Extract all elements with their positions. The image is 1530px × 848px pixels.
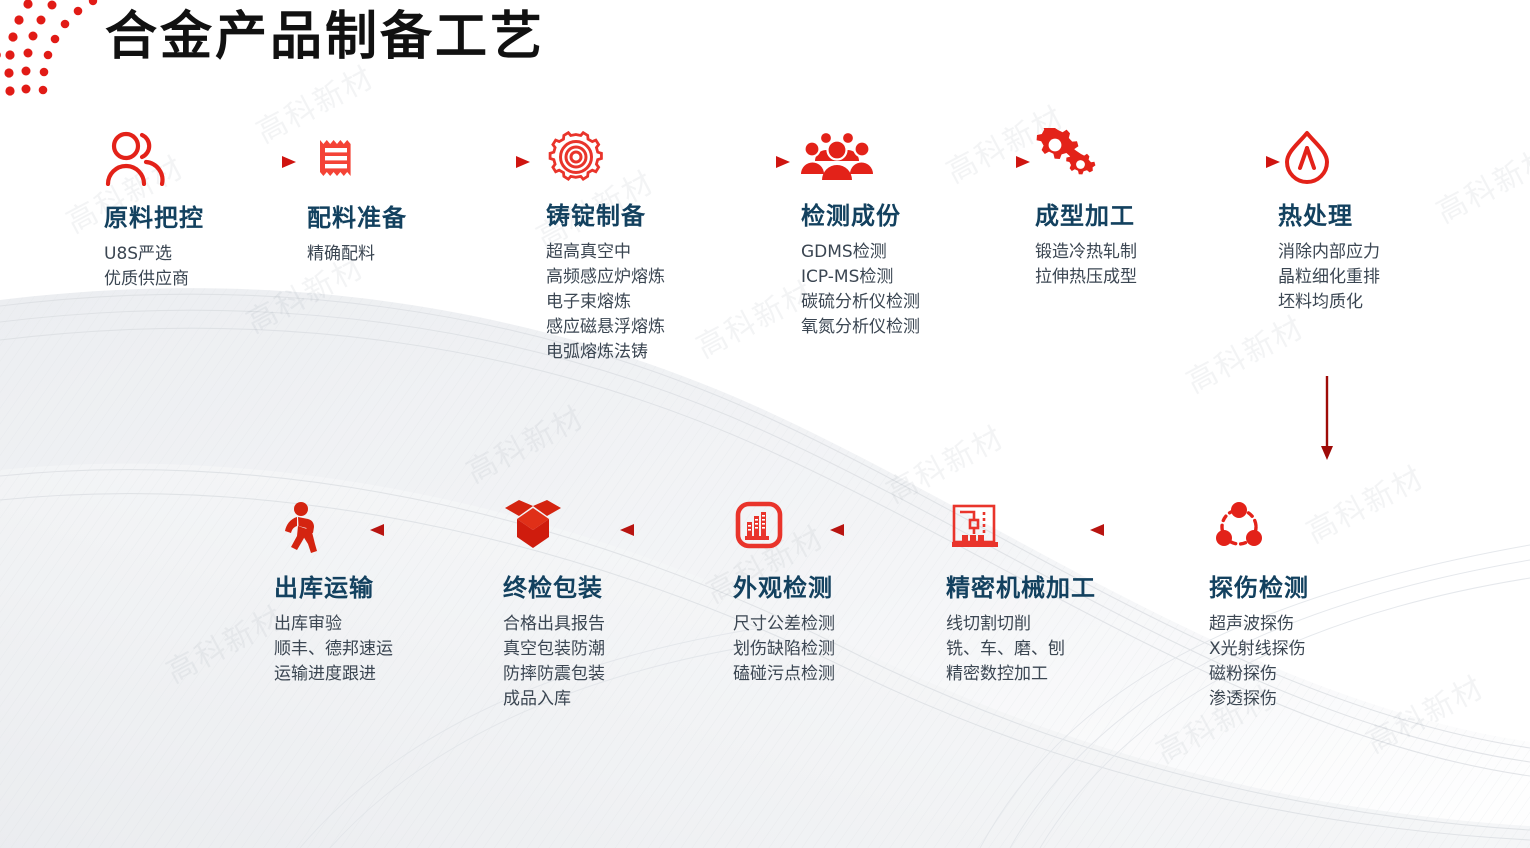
step-detail-list: 线切割切削 铣、车、磨、刨 精密数控加工 [946, 612, 1096, 687]
step-title: 成型加工 [1035, 196, 1137, 231]
step-title: 精密机械加工 [946, 568, 1096, 603]
flow-arrow-right [420, 155, 530, 169]
red-dot-arc-icon [0, 0, 116, 110]
step-detail-list: 锻造冷热轧制 拉伸热压成型 [1035, 240, 1137, 290]
flame-icon [1278, 128, 1380, 186]
step-detail-line: 锻造冷热轧制 [1035, 240, 1137, 265]
step-detail-line: 渗透探伤 [1209, 687, 1309, 712]
page-title: 合金产品制备工艺 [105, 8, 545, 68]
flow-arrow-left [1090, 523, 1190, 537]
step-detail-line: GDMS检测 [801, 240, 920, 265]
step-detail-line: 感应磁悬浮熔炼 [546, 315, 665, 340]
cnc-machine-icon [946, 500, 1096, 558]
step-raw-material-control[interactable]: 原料把控 U8S严选 优质供应商 [104, 130, 204, 292]
step-title: 检测成份 [801, 196, 920, 231]
step-detail-list: 消除内部应力 晶粒细化重排 坯料均质化 [1278, 240, 1380, 315]
walking-person-icon [274, 500, 393, 558]
step-detail-line: U8S严选 [104, 242, 204, 267]
step-composition-testing[interactable]: 检测成份 GDMS检测 ICP-MS检测 碳硫分析仪检测 氧氮分析仪检测 [801, 128, 920, 340]
step-title: 外观检测 [733, 568, 835, 603]
step-detail-list: 精确配料 [307, 242, 407, 267]
flow-arrow-left [830, 523, 930, 537]
step-detail-line: 氧氮分析仪检测 [801, 315, 920, 340]
step-heat-treatment[interactable]: 热处理 消除内部应力 晶粒细化重排 坯料均质化 [1278, 128, 1380, 315]
step-detail-line: 晶粒细化重排 [1278, 265, 1380, 290]
step-detail-list: GDMS检测 ICP-MS检测 碳硫分析仪检测 氧氮分析仪检测 [801, 240, 920, 340]
step-detail-line: 高频感应炉熔炼 [546, 265, 665, 290]
step-detail-line: ICP-MS检测 [801, 265, 920, 290]
open-box-icon [503, 500, 605, 558]
step-title: 终检包装 [503, 568, 605, 603]
step-detail-line: 坯料均质化 [1278, 290, 1380, 315]
step-title: 原料把控 [104, 198, 204, 233]
step-detail-line: 碳硫分析仪检测 [801, 290, 920, 315]
step-detail-line: 划伤缺陷检测 [733, 637, 835, 662]
step-detail-line: 优质供应商 [104, 267, 204, 292]
step-appearance-inspection[interactable]: 外观检测 尺寸公差检测 划伤缺陷检测 磕碰污点检测 [733, 500, 835, 687]
page-header: 合金产品制备工艺 [0, 0, 1530, 100]
step-detail-line: 防摔防震包装 [503, 662, 605, 687]
step-detail-list: 合格出具报告 真空包装防潮 防摔防震包装 成品入库 [503, 612, 605, 712]
step-detail-line: 磕碰污点检测 [733, 662, 835, 687]
flow-arrow-down [1320, 376, 1334, 460]
step-detail-list: 超声波探伤 X光射线探伤 磁粉探伤 渗透探伤 [1209, 612, 1309, 712]
step-detail-line: 磁粉探伤 [1209, 662, 1309, 687]
step-flaw-detection[interactable]: 探伤检测 超声波探伤 X光射线探伤 磁粉探伤 渗透探伤 [1209, 500, 1309, 712]
step-title: 配料准备 [307, 198, 407, 233]
flow-arrow-left [620, 523, 720, 537]
step-detail-line: 电子束熔炼 [546, 290, 665, 315]
step-title: 出库运输 [274, 568, 393, 603]
step-detail-line: 拉伸热压成型 [1035, 265, 1137, 290]
step-detail-line: 顺丰、德邦速运 [274, 637, 393, 662]
receipt-icon [307, 130, 407, 188]
step-detail-list: 超高真空中 高频感应炉熔炼 电子束熔炼 感应磁悬浮熔炼 电弧熔炼法铸 [546, 240, 665, 365]
flow-arrow-right [930, 155, 1030, 169]
factory-badge-icon [733, 500, 835, 558]
step-batching-preparation[interactable]: 配料准备 精确配料 [307, 130, 407, 267]
step-detail-line: 出库审验 [274, 612, 393, 637]
step-detail-line: 精确配料 [307, 242, 407, 267]
step-detail-line: 精密数控加工 [946, 662, 1096, 687]
two-people-outline-icon [104, 130, 204, 188]
flow-arrow-right [690, 155, 790, 169]
step-detail-line: 消除内部应力 [1278, 240, 1380, 265]
step-final-inspection-packaging[interactable]: 终检包装 合格出具报告 真空包装防潮 防摔防震包装 成品入库 [503, 500, 605, 712]
step-detail-list: 尺寸公差检测 划伤缺陷检测 磕碰污点检测 [733, 612, 835, 687]
step-detail-line: 真空包装防潮 [503, 637, 605, 662]
flow-arrow-right [1180, 155, 1280, 169]
step-detail-line: 合格出具报告 [503, 612, 605, 637]
step-detail-line: 尺寸公差检测 [733, 612, 835, 637]
step-detail-line: 运输进度跟进 [274, 662, 393, 687]
process-flow: 原料把控 U8S严选 优质供应商 配料准备 精确配料 [0, 0, 1530, 848]
step-title: 铸锭制备 [546, 196, 665, 231]
flow-arrow-right [198, 155, 296, 169]
step-detail-line: 电弧熔炼法铸 [546, 340, 665, 365]
people-group-icon [801, 128, 920, 186]
step-detail-line: 线切割切削 [946, 612, 1096, 637]
share-nodes-icon [1209, 500, 1309, 558]
step-title: 探伤检测 [1209, 568, 1309, 603]
double-gear-icon [1035, 128, 1137, 186]
step-precision-machining[interactable]: 精密机械加工 线切割切削 铣、车、磨、刨 精密数控加工 [946, 500, 1096, 687]
step-detail-list: U8S严选 优质供应商 [104, 242, 204, 292]
step-title: 热处理 [1278, 196, 1380, 231]
step-detail-line: X光射线探伤 [1209, 637, 1309, 662]
step-detail-line: 铣、车、磨、刨 [946, 637, 1096, 662]
gear-target-icon [546, 128, 665, 186]
step-detail-line: 超声波探伤 [1209, 612, 1309, 637]
step-detail-line: 超高真空中 [546, 240, 665, 265]
step-outbound-transport[interactable]: 出库运输 出库审验 顺丰、德邦速运 运输进度跟进 [274, 500, 393, 687]
step-detail-line: 成品入库 [503, 687, 605, 712]
step-ingot-preparation[interactable]: 铸锭制备 超高真空中 高频感应炉熔炼 电子束熔炼 感应磁悬浮熔炼 电弧熔炼法铸 [546, 128, 665, 365]
step-detail-list: 出库审验 顺丰、德邦速运 运输进度跟进 [274, 612, 393, 687]
step-forming-processing[interactable]: 成型加工 锻造冷热轧制 拉伸热压成型 [1035, 128, 1137, 290]
